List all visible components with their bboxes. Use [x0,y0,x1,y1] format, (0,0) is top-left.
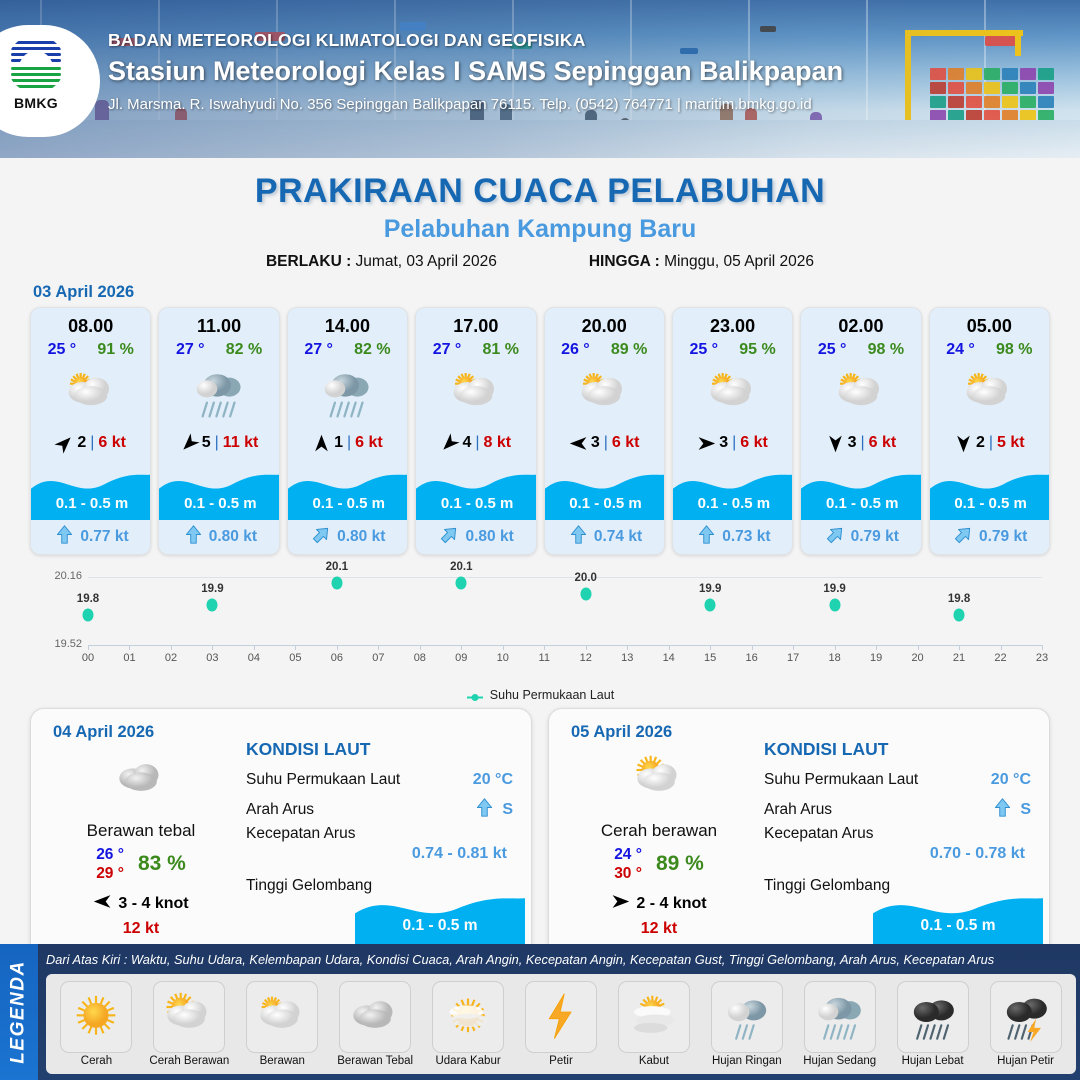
legend-item-label: Hujan Sedang [803,1055,876,1067]
chart-xtick: 07 [372,652,384,664]
wind-direction-icon [180,434,198,452]
current-direction-label: Arah Arus [764,801,832,819]
legend-item: Cerah Berawan [143,981,236,1067]
chart-point [580,588,591,601]
chart-xtick: 11 [539,652,550,664]
current-direction-icon [697,525,716,549]
card-temperature: 26 ° [561,341,590,359]
current-speed-label: Kecepatan Arus [764,825,873,843]
chart-xtick: 22 [994,652,1006,664]
chart-point [954,609,965,622]
daily-condition: Cerah berawan [559,821,759,841]
daily-humidity: 83 % [138,852,186,876]
chart-point-label: 20.0 [575,572,597,584]
current-direction-icon [55,525,74,549]
current-direction-icon [993,798,1012,822]
chart-xtick: 14 [663,652,675,664]
current-direction-value: S [1020,801,1031,819]
card-weather-icon [159,363,278,425]
bmkg-logo-icon [7,35,65,93]
card-temperature: 24 ° [946,341,975,359]
wind-direction-icon [93,892,112,916]
chart-xtick: 04 [248,652,260,664]
card-humidity: 89 % [611,341,647,359]
card-temperature: 25 ° [689,341,718,359]
legend-item: Hujan Petir [979,981,1072,1067]
card-wave-height: 0.1 - 0.5 m [930,495,1050,512]
current-direction-label: Arah Arus [246,801,314,819]
chart-legend: Suhu Permukaan Laut [0,688,1080,702]
card-time: 08.00 [31,316,150,337]
legend-item-label: Cerah [81,1055,112,1067]
card-wave-height: 0.1 - 0.5 m [288,495,408,512]
chart-xtick: 19 [870,652,882,664]
daily-date: 04 April 2026 [53,723,154,742]
current-direction-icon [826,525,845,549]
card-time: 20.00 [545,316,664,337]
chart-xtick: 08 [414,652,426,664]
card-current: 0.80 kt [288,525,408,549]
forecast-card: 17.0027 °81 %4|8 kt0.1 - 0.5 m0.80 kt [415,307,536,555]
chart-xtick: 20 [911,652,923,664]
validity-dates: BERLAKU : Jumat, 03 April 2026 HINGGA : … [0,253,1080,271]
legend-item-label: Petir [549,1055,573,1067]
sea-condition-title: KONDISI LAUT [246,739,521,760]
wind-direction-icon [440,434,458,452]
valid-until-label: HINGGA : [589,253,660,270]
card-time: 11.00 [159,316,278,337]
legend-note: Dari Atas Kiri : Waktu, Suhu Udara, Kele… [46,952,1074,967]
forecast-card: 02.0025 °98 %3|6 kt0.1 - 0.5 m0.79 kt [800,307,921,555]
card-weather-icon [801,363,920,425]
chart-point [456,577,467,590]
card-current: 0.80 kt [159,525,279,549]
card-humidity: 81 % [482,341,518,359]
card-current: 0.74 kt [545,525,665,549]
card-gust: 6 kt [869,434,897,452]
card-temperature: 25 ° [48,341,77,359]
valid-from-value: Jumat, 03 April 2026 [356,253,497,270]
current-direction-icon [312,525,331,549]
card-wind: 3|6 kt [545,434,664,452]
card-wind-speed: 1 [334,434,343,452]
chart-legend-label: Suhu Permukaan Laut [490,688,614,702]
legend-icon-hujan-lebat [897,981,969,1053]
chart-xtick: 10 [497,652,509,664]
legend-item: Udara Kabur [422,981,515,1067]
current-direction-icon [184,525,203,549]
legend-item-label: Hujan Ringan [712,1055,782,1067]
card-time: 14.00 [288,316,407,337]
daily-forecast-panels: 04 April 2026Berawan tebal26 °29 °83 %3 … [0,708,1080,958]
card-wind: 3|6 kt [673,434,792,452]
legend-item: Hujan Lebat [886,981,979,1067]
card-current: 0.77 kt [31,525,151,549]
current-direction-icon [440,525,459,549]
daily-wave-height: 0.1 - 0.5 m [873,917,1043,935]
daily-temp-max: 30 ° [614,864,642,883]
chart-xtick: 18 [828,652,840,664]
card-time: 23.00 [673,316,792,337]
hourly-forecast-list: 08.0025 °91 %2|6 kt0.1 - 0.5 m0.77 kt11.… [0,307,1080,555]
card-humidity: 95 % [739,341,775,359]
current-direction-icon [954,525,973,549]
card-weather-icon [31,363,150,425]
wind-direction-icon [954,434,972,452]
chart-point-label: 20.1 [450,561,472,573]
card-wave-height: 0.1 - 0.5 m [159,495,279,512]
card-current-speed: 0.79 kt [851,528,899,546]
legend-icon-berawan [246,981,318,1053]
card-current: 0.79 kt [801,525,921,549]
daily-humidity: 89 % [656,852,704,876]
card-gust: 8 kt [484,434,512,452]
card-humidity: 82 % [226,341,262,359]
card-current: 0.79 kt [930,525,1050,549]
card-current: 0.80 kt [416,525,536,549]
card-wave-height: 0.1 - 0.5 m [801,495,921,512]
chart-xtick: 15 [704,652,716,664]
legend-strip: LEGENDA Dari Atas Kiri : Waktu, Suhu Uda… [0,944,1080,1080]
card-wind: 3|6 kt [801,434,920,452]
legend-item-label: Kabut [639,1055,669,1067]
page-title: PRAKIRAAN CUACA PELABUHAN [0,172,1080,211]
card-wave-height: 0.1 - 0.5 m [416,495,536,512]
card-humidity: 91 % [97,341,133,359]
wind-direction-icon [312,434,330,452]
chart-xtick: 09 [455,652,467,664]
legend-item-label: Berawan Tebal [337,1055,413,1067]
daily-wind: 2 - 4 knot [559,892,759,916]
card-weather-icon [545,363,664,425]
daily-forecast-panel: 04 April 2026Berawan tebal26 °29 °83 %3 … [30,708,532,958]
chart-xtick: 17 [787,652,799,664]
legend-icon-udara-kabur [432,981,504,1053]
daily-wave-height: 0.1 - 0.5 m [355,917,525,935]
wind-direction-icon [611,892,630,916]
card-wind: 4|8 kt [416,434,535,452]
daily-wind: 3 - 4 knot [41,892,241,916]
card-current-speed: 0.80 kt [209,528,257,546]
legend-item: Cerah [50,981,143,1067]
card-wind: 1|6 kt [288,434,407,452]
current-speed-label: Kecepatan Arus [246,825,355,843]
page-subtitle: Pelabuhan Kampung Baru [0,215,1080,244]
legend-item: Hujan Ringan [700,981,793,1067]
card-humidity: 98 % [996,341,1032,359]
legend-icon-list: CerahCerah BerawanBerawanBerawan TebalUd… [46,974,1076,1074]
chart-point-label: 20.1 [326,561,348,573]
card-wind: 2|5 kt [930,434,1049,452]
card-gust: 6 kt [98,434,126,452]
card-temperature: 27 ° [304,341,333,359]
card-wave-height: 0.1 - 0.5 m [673,495,793,512]
card-time: 02.00 [801,316,920,337]
chart-xtick: 12 [580,652,592,664]
forecast-card: 23.0025 °95 %3|6 kt0.1 - 0.5 m0.73 kt [672,307,793,555]
wave-height-label: Tinggi Gelombang [764,877,890,895]
chart-xtick: 00 [82,652,94,664]
card-humidity: 82 % [354,341,390,359]
chart-xtick: 06 [331,652,343,664]
legend-icon-hujan-ringan [711,981,783,1053]
legend-icon-cerah-berawan [153,981,225,1053]
card-gust: 6 kt [355,434,383,452]
card-weather-icon [416,363,535,425]
card-temperature: 25 ° [818,341,847,359]
card-wind-separator: | [989,434,993,452]
legend-item: Kabut [607,981,700,1067]
card-gust: 6 kt [612,434,640,452]
forecast-card: 05.0024 °98 %2|5 kt0.1 - 0.5 m0.79 kt [929,307,1050,555]
sst-label: Suhu Permukaan Laut [764,771,918,789]
wind-direction-icon [55,434,73,452]
title-block: PRAKIRAAN CUACA PELABUHAN Pelabuhan Kamp… [0,172,1080,271]
wind-direction-icon [826,434,844,452]
bmkg-logo-text: BMKG [14,95,58,111]
daily-weather-icon [41,751,241,809]
sst-value: 20 °C [473,771,513,789]
current-speed-value: 0.74 - 0.81 kt [412,845,507,863]
chart-point [331,577,342,590]
legend-icon-kabut [618,981,690,1053]
card-time: 17.00 [416,316,535,337]
chart-point-label: 19.9 [823,583,845,595]
chart-point [705,598,716,611]
forecast-card: 11.0027 °82 %5|11 kt0.1 - 0.5 m0.80 kt [158,307,279,555]
card-temperature: 27 ° [176,341,205,359]
valid-until-value: Minggu, 05 April 2026 [664,253,814,270]
card-current-speed: 0.80 kt [337,528,385,546]
card-wave-height: 0.1 - 0.5 m [31,495,151,512]
daily-temp-max: 29 ° [96,864,124,883]
card-wind-separator: | [347,434,351,452]
card-current-speed: 0.79 kt [979,528,1027,546]
daily-gust: 12 kt [559,920,759,938]
legend-item-label: Cerah Berawan [149,1055,229,1067]
legend-icon-petir [525,981,597,1053]
legend-item-label: Hujan Lebat [902,1055,964,1067]
sst-label: Suhu Permukaan Laut [246,771,400,789]
card-wind-separator: | [861,434,865,452]
legend-item-label: Udara Kabur [435,1055,500,1067]
daily-temp-min: 24 ° [614,845,642,864]
valid-from-label: BERLAKU : [266,253,351,270]
card-wind-separator: | [90,434,94,452]
daily-weather-icon [559,751,759,809]
legend-item: Berawan Tebal [329,981,422,1067]
chart-point-label: 19.9 [699,583,721,595]
organization-name: BADAN METEOROLOGI KLIMATOLOGI DAN GEOFIS… [108,30,843,51]
card-current-speed: 0.74 kt [594,528,642,546]
daily-forecast-panel: 05 April 2026Cerah berawan24 °30 °89 %2 … [548,708,1050,958]
chart-point [83,609,94,622]
chart-ytick: 19.52 [36,638,82,650]
chart-xtick: 02 [165,652,177,664]
chart-point-label: 19.8 [77,593,99,605]
station-address: Jl. Marsma. R. Iswahyudi No. 356 Sepingg… [108,96,843,113]
card-wind: 5|11 kt [159,434,278,452]
chart-xtick: 01 [123,652,135,664]
chart-point [829,598,840,611]
legend-item-label: Berawan [260,1055,305,1067]
card-wind: 2|6 kt [31,434,150,452]
chart-xtick: 13 [621,652,633,664]
current-direction-icon [569,525,588,549]
wave-height-label: Tinggi Gelombang [246,877,372,895]
chart-ytick: 20.16 [36,570,82,582]
chart-legend-marker [466,691,484,700]
legend-side-title: LEGENDA [0,944,38,1080]
card-wave-height: 0.1 - 0.5 m [545,495,665,512]
current-direction-value: S [502,801,513,819]
page-header: BMKG BADAN METEOROLOGI KLIMATOLOGI DAN G… [0,0,1080,158]
legend-item-label: Hujan Petir [997,1055,1054,1067]
legend-icon-hujan-petir [990,981,1062,1053]
legend-icon-hujan-sedang [804,981,876,1053]
chart-xtick: 21 [953,652,965,664]
card-temperature: 27 ° [433,341,462,359]
daily-gust: 12 kt [41,920,241,938]
chart-xtick: 16 [746,652,758,664]
card-current: 0.73 kt [673,525,793,549]
current-direction-icon [475,798,494,822]
daily-temp-min: 26 ° [96,845,124,864]
card-time: 05.00 [930,316,1049,337]
chart-xtick: 03 [206,652,218,664]
card-wind-speed: 3 [848,434,857,452]
card-wind-speed: 3 [591,434,600,452]
legend-icon-berawan-tebal [339,981,411,1053]
card-humidity: 98 % [868,341,904,359]
daily-wind-speed: 2 - 4 knot [636,895,706,913]
legend-item: Hujan Sedang [793,981,886,1067]
card-current-speed: 0.80 kt [465,528,513,546]
legend-item: Petir [515,981,608,1067]
forecast-card: 20.0026 °89 %3|6 kt0.1 - 0.5 m0.74 kt [544,307,665,555]
card-current-speed: 0.73 kt [722,528,770,546]
legend-item: Berawan [236,981,329,1067]
chart-xtick: 23 [1036,652,1048,664]
card-wind-speed: 2 [976,434,985,452]
forecast-card: 14.0027 °82 %1|6 kt0.1 - 0.5 m0.80 kt [287,307,408,555]
card-current-speed: 0.77 kt [80,528,128,546]
sst-value: 20 °C [991,771,1031,789]
card-wind-speed: 5 [202,434,211,452]
card-wind-separator: | [604,434,608,452]
current-speed-value: 0.70 - 0.78 kt [930,845,1025,863]
card-gust: 6 kt [740,434,768,452]
daily-wind-speed: 3 - 4 knot [118,895,188,913]
card-weather-icon [930,363,1049,425]
forecast-date-label: 03 April 2026 [33,283,1080,302]
station-name: Stasiun Meteorologi Kelas I SAMS Sepingg… [108,56,843,87]
chart-point-label: 19.8 [948,593,970,605]
chart-xtick: 05 [289,652,301,664]
sst-chart: 20.1619.52000102030405060708091011121314… [30,567,1050,685]
wind-direction-icon [697,434,715,452]
chart-point [207,598,218,611]
card-weather-icon [673,363,792,425]
card-wind-separator: | [732,434,736,452]
daily-condition: Berawan tebal [41,821,241,841]
daily-date: 05 April 2026 [571,723,672,742]
forecast-card: 08.0025 °91 %2|6 kt0.1 - 0.5 m0.77 kt [30,307,151,555]
card-gust: 5 kt [997,434,1025,452]
card-wind-separator: | [215,434,219,452]
sea-condition-title: KONDISI LAUT [764,739,1039,760]
card-wind-speed: 3 [719,434,728,452]
card-gust: 11 kt [223,434,259,452]
card-wind-speed: 4 [462,434,471,452]
card-weather-icon [288,363,407,425]
card-wind-speed: 2 [77,434,86,452]
card-wind-separator: | [475,434,479,452]
wind-direction-icon [569,434,587,452]
legend-icon-cerah [60,981,132,1053]
chart-point-label: 19.9 [201,583,223,595]
